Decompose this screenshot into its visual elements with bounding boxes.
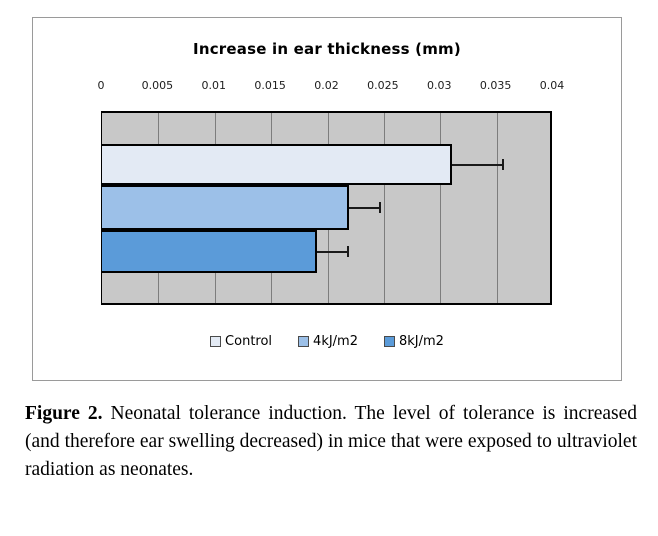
legend-swatch-icon	[384, 336, 395, 347]
bar-8kj-m2	[102, 230, 317, 273]
legend-label: Control	[225, 334, 272, 349]
error-bar-cap	[379, 202, 381, 213]
error-bar-cap	[347, 246, 349, 257]
legend-label: 8kJ/m2	[399, 334, 444, 349]
chart-legend: Control4kJ/m28kJ/m2	[33, 334, 621, 349]
chart-frame: Increase in ear thickness (mm) 00.0050.0…	[32, 17, 622, 381]
figure-caption-text: Neonatal tolerance induction. The level …	[25, 403, 637, 480]
bar-control	[102, 144, 452, 185]
legend-item: 8kJ/m2	[384, 334, 444, 349]
figure-caption: Figure 2. Neonatal tolerance induction. …	[25, 400, 637, 484]
gridline	[440, 113, 441, 303]
error-bar-cap	[502, 159, 504, 170]
bar-4kj-m2	[102, 185, 349, 230]
gridline	[497, 113, 498, 303]
x-axis-tick-label: 0.03	[427, 79, 452, 92]
legend-item: Control	[210, 334, 272, 349]
x-axis-tick-label: 0	[98, 79, 105, 92]
error-bar-line	[317, 251, 347, 253]
x-axis-tick-label: 0.015	[254, 79, 286, 92]
legend-item: 4kJ/m2	[298, 334, 358, 349]
plot-area	[101, 111, 552, 305]
x-axis-tick-label: 0.01	[202, 79, 227, 92]
legend-swatch-icon	[210, 336, 221, 347]
legend-label: 4kJ/m2	[313, 334, 358, 349]
x-axis-tick-label: 0.04	[540, 79, 565, 92]
x-axis-tick-label: 0.035	[480, 79, 512, 92]
gridline	[384, 113, 385, 303]
x-axis-tick-label: 0.02	[314, 79, 339, 92]
x-axis-tick-label: 0.025	[367, 79, 399, 92]
figure-label: Figure 2.	[25, 403, 103, 424]
error-bar-line	[349, 207, 381, 209]
error-bar-line	[452, 164, 504, 166]
x-axis-tick-label: 0.005	[142, 79, 174, 92]
chart-title: Increase in ear thickness (mm)	[33, 40, 621, 58]
legend-swatch-icon	[298, 336, 309, 347]
